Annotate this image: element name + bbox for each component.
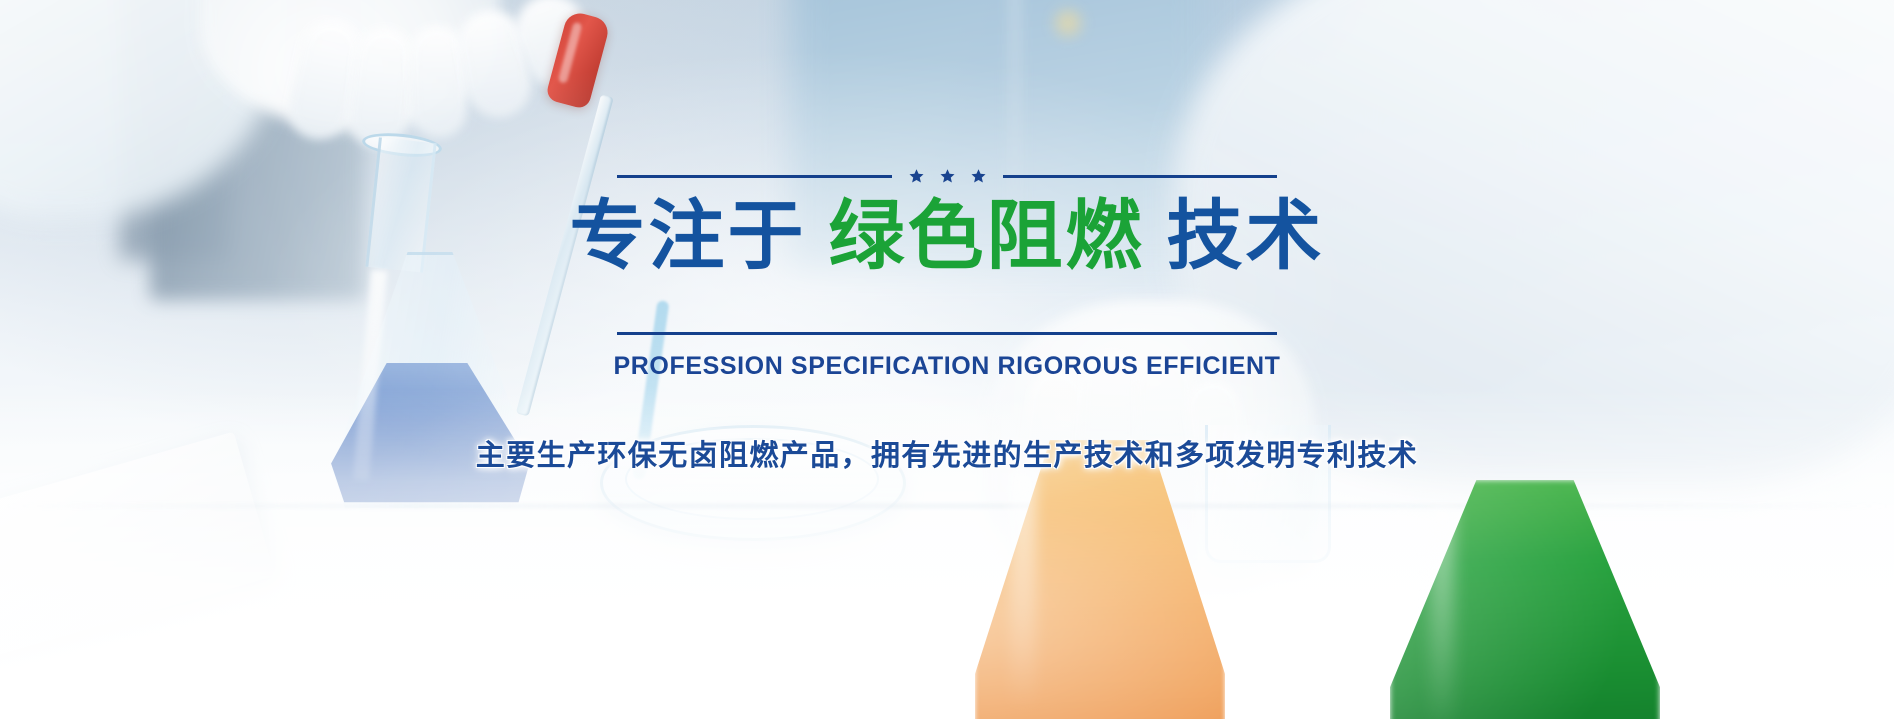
star-icon [908,168,925,185]
tagline: 主要生产环保无卤阻燃产品，拥有先进的生产技术和多项发明专利技术 [476,432,1418,474]
star-icon [970,168,987,185]
rule-below-title [617,332,1277,335]
headline-part-3: 技术 [1167,196,1325,275]
banner-content: 专注于 绿色阻燃 技术 PROFESSION SPECIFICATION RIG… [0,0,1894,719]
rule-right [1003,175,1278,178]
decorative-rule-with-stars [617,165,1277,187]
headline-part-2: 绿色阻燃 [829,196,1145,275]
star-group [908,168,987,185]
rule-left [617,175,892,178]
hero-banner: 专注于 绿色阻燃 技术 PROFESSION SPECIFICATION RIG… [0,0,1894,719]
english-subtitle: PROFESSION SPECIFICATION RIGOROUS EFFICI… [613,352,1280,381]
star-icon [939,168,956,185]
page-title: 专注于 绿色阻燃 技术 [570,196,1325,275]
headline-part-1: 专注于 [570,196,807,275]
